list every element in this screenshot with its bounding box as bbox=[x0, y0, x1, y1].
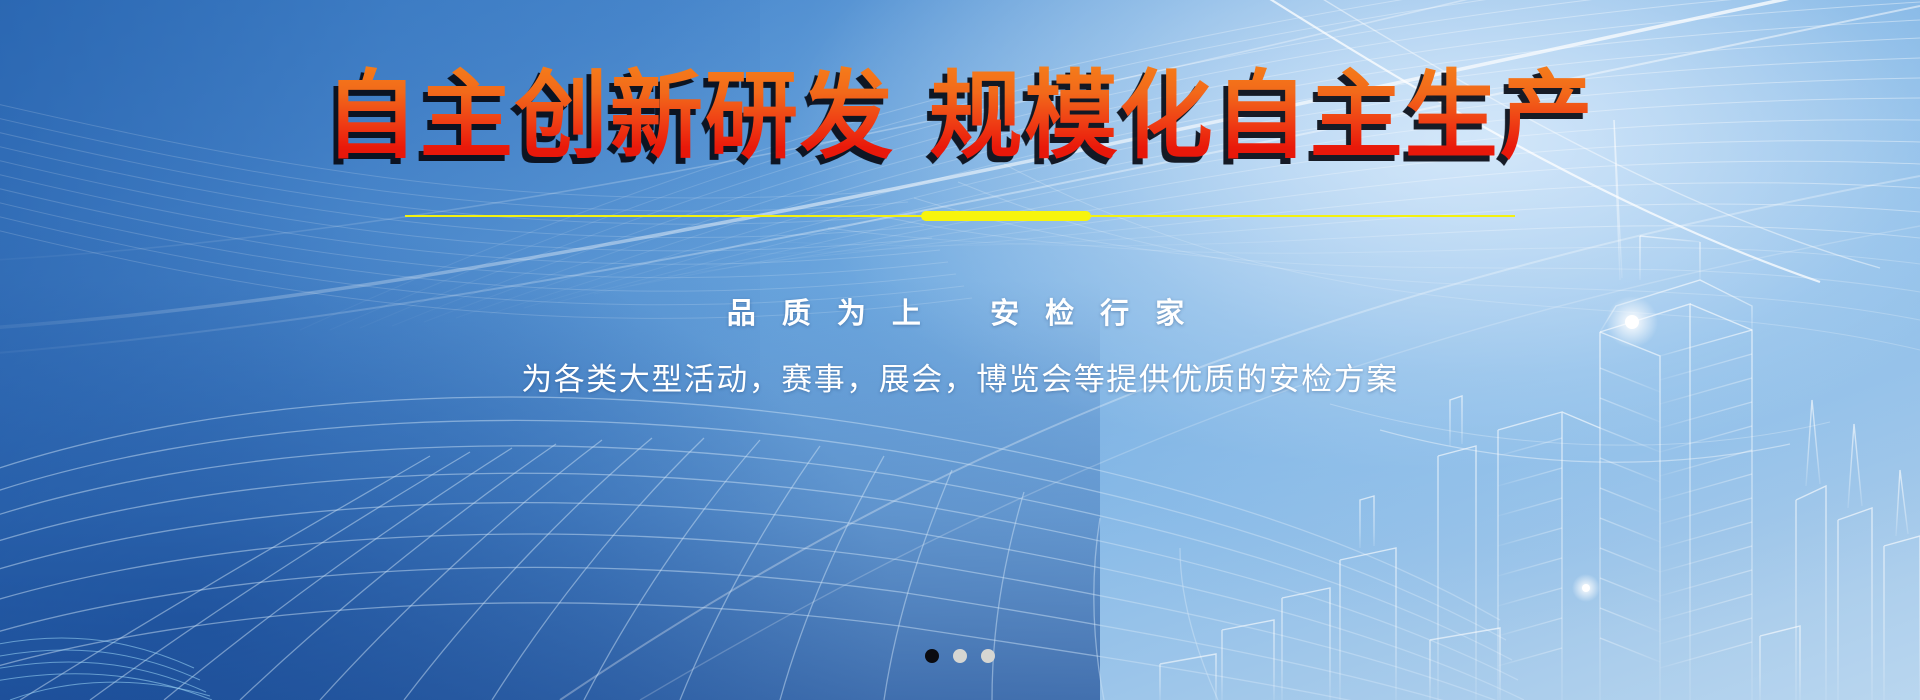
divider bbox=[405, 210, 1515, 222]
banner-content: 自主创新研发 规模化自主生产 品 质 为 上 安 检 行 家 为各类大型活动，赛… bbox=[0, 0, 1920, 700]
hero-banner: 自主创新研发 规模化自主生产 品 质 为 上 安 检 行 家 为各类大型活动，赛… bbox=[0, 0, 1920, 700]
carousel-dot-1[interactable] bbox=[925, 649, 939, 663]
carousel-dot-3[interactable] bbox=[981, 649, 995, 663]
page-title: 自主创新研发 规模化自主生产 bbox=[325, 66, 1595, 168]
divider-accent bbox=[921, 211, 1091, 221]
slogan: 品 质 为 上 安 检 行 家 bbox=[727, 290, 1193, 332]
carousel-dot-2[interactable] bbox=[953, 649, 967, 663]
slogan-part-2: 安 检 行 家 bbox=[990, 298, 1193, 330]
slogan-part-1: 品 质 为 上 bbox=[727, 298, 930, 330]
banner-description: 为各类大型活动，赛事，展会，博览会等提供优质的安检方案 bbox=[521, 354, 1399, 399]
carousel-dots[interactable] bbox=[925, 649, 995, 663]
